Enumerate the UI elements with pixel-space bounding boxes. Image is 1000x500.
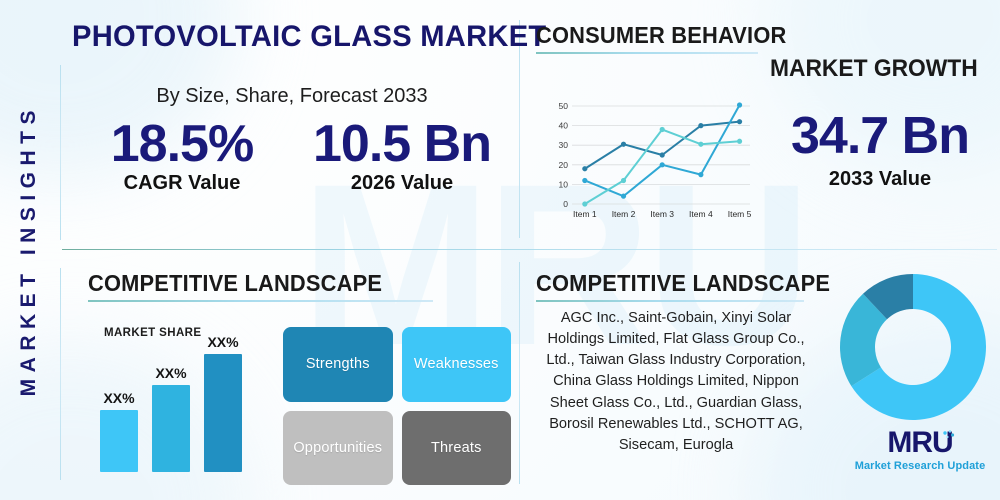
divider-middle-bottom <box>519 262 520 484</box>
market-share-bar-fill <box>152 385 190 472</box>
market-share-donut-chart <box>838 272 988 422</box>
competitive-right-underline <box>536 300 804 302</box>
market-share-bar-fill <box>100 410 138 472</box>
donut-chart-svg <box>838 272 988 422</box>
swot-grid: StrengthsWeaknessesOpportunitiesThreats <box>283 327 511 485</box>
swot-box-strengths[interactable]: Strengths <box>283 327 393 402</box>
consumer-behavior-underline <box>536 52 758 54</box>
swot-box-threats[interactable]: Threats <box>402 411 512 486</box>
svg-text:50: 50 <box>559 101 569 111</box>
logo-mark-text: MRU <box>887 428 952 458</box>
svg-text:30: 30 <box>559 140 569 150</box>
competitive-left-underline <box>88 300 433 302</box>
kpi-cagr-value: 18.5% <box>72 118 292 171</box>
svg-text:Item 4: Item 4 <box>689 209 713 219</box>
kpi-row: 18.5% CAGR Value 10.5 Bn 2026 Value <box>72 118 512 195</box>
page-title: PHOTOVOLTAIC GLASS MARKET <box>72 20 499 54</box>
section-header-competitive-left: COMPETITIVE LANDSCAPE <box>88 270 433 302</box>
kpi-2026-value: 10.5 Bn <box>292 118 512 171</box>
page-subtitle: By Size, Share, Forecast 2033 <box>72 85 512 108</box>
market-growth-value: 34.7 Bn <box>760 110 1000 162</box>
brand-logo: MRU Market Research Update <box>852 428 988 472</box>
infographic-root: MRU MARKET INSIGHTS PHOTOVOLTAIC GLASS M… <box>0 0 1000 500</box>
svg-text:Item 2: Item 2 <box>612 209 636 219</box>
market-share-bar-label: XX% <box>103 390 134 406</box>
svg-text:10: 10 <box>559 179 569 189</box>
svg-text:0: 0 <box>563 199 568 209</box>
competitive-right-title: COMPETITIVE LANDSCAPE <box>536 270 830 297</box>
swot-box-weaknesses[interactable]: Weaknesses <box>402 327 512 402</box>
market-share-bar: XX% <box>100 390 138 472</box>
svg-text:Item 1: Item 1 <box>573 209 597 219</box>
svg-text:40: 40 <box>559 121 569 131</box>
section-header-consumer-behavior: CONSUMER BEHAVIOR <box>536 22 800 54</box>
svg-text:20: 20 <box>559 160 569 170</box>
kpi-cagr: 18.5% CAGR Value <box>72 118 292 195</box>
market-share-bar-label: XX% <box>155 365 186 381</box>
divider-left-bottom <box>60 268 61 480</box>
market-growth-title: MARKET GROWTH <box>770 55 978 83</box>
kpi-2026: 10.5 Bn 2026 Value <box>292 118 512 195</box>
market-share-chart-title: MARKET SHARE <box>104 327 201 339</box>
kpi-cagr-label: CAGR Value <box>72 172 292 195</box>
kpi-2026-label: 2026 Value <box>292 172 512 195</box>
market-insights-side-label: MARKET INSIGHTS <box>0 0 58 500</box>
market-growth-label: 2033 Value <box>760 168 1000 191</box>
market-share-bar: XX% <box>152 365 190 472</box>
section-header-competitive-right: COMPETITIVE LANDSCAPE <box>536 270 846 302</box>
logo-dots-icon <box>940 421 956 451</box>
market-share-bar: XX% <box>204 334 242 472</box>
consumer-behavior-title: CONSUMER BEHAVIOR <box>536 22 786 49</box>
market-share-bar-label: XX% <box>207 334 238 350</box>
divider-horizontal <box>62 249 997 250</box>
market-share-bar-fill <box>204 354 242 472</box>
svg-text:Item 5: Item 5 <box>728 209 752 219</box>
logo-subtitle: Market Research Update <box>852 460 988 472</box>
svg-text:Item 3: Item 3 <box>650 209 674 219</box>
divider-left-top <box>60 65 61 240</box>
swot-box-opportunities[interactable]: Opportunities <box>283 411 393 486</box>
line-chart-svg: 01020304050Item 1Item 2Item 3Item 4Item … <box>548 100 758 222</box>
market-share-bar-chart: XX%XX%XX% <box>100 340 260 472</box>
competitive-left-title: COMPETITIVE LANDSCAPE <box>88 270 416 297</box>
side-label-text: MARKET INSIGHTS <box>17 104 41 396</box>
consumer-behavior-line-chart: 01020304050Item 1Item 2Item 3Item 4Item … <box>548 100 758 222</box>
company-list: AGC Inc., Saint-Gobain, Xinyi Solar Hold… <box>537 308 815 456</box>
